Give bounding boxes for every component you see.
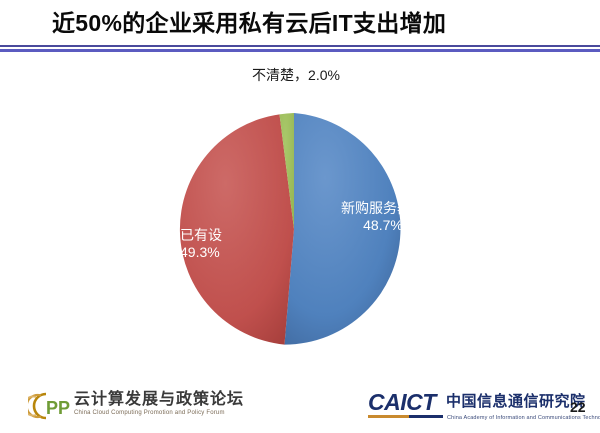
caict-name-en: China Academy of Information and Communi…	[447, 414, 600, 422]
page-title: 近50%的企业采用私有云后IT支出增加	[52, 7, 572, 39]
pie-label-new-server-value: 48.7%	[318, 217, 448, 234]
pie-label-existing-equipment: 利用已有设 备，49.3%	[152, 227, 277, 261]
pie-chart: 不清楚，2.0% 新购服务器， 48.7% 利用已有设 备，49.3%	[0, 55, 600, 375]
ccppf-circle-logo-icon: PP	[28, 391, 74, 421]
pie-label-unknown: 不清楚，2.0%	[206, 67, 386, 84]
divider-line-bottom	[0, 49, 600, 52]
pie-label-unknown-text: 不清楚，2.0%	[206, 67, 386, 84]
pie-label-existing-value: 备，49.3%	[152, 244, 277, 261]
pie-label-existing-name: 利用已有设	[152, 227, 277, 244]
forum-logo-text: 云计算发展与政策论坛 China Cloud Computing Promoti…	[74, 390, 244, 418]
svg-text:PP: PP	[46, 398, 70, 418]
caict-logo-bar	[368, 415, 443, 418]
forum-name-en: China Cloud Computing Promotion and Poli…	[74, 409, 244, 418]
caict-name-cn: 中国信息通信研究院	[446, 392, 586, 412]
title-divider	[0, 45, 600, 52]
pie-label-new-server-name: 新购服务器，	[318, 200, 448, 217]
divider-line-top	[0, 45, 600, 47]
pie-label-new-server: 新购服务器， 48.7%	[318, 200, 448, 234]
slide-canvas: 近50%的企业采用私有云后IT支出增加	[0, 0, 600, 433]
page-number: 22	[570, 399, 586, 415]
title-block: 近50%的企业采用私有云后IT支出增加	[0, 0, 600, 48]
footer: PP 云计算发展与政策论坛 China Cloud Computing Prom…	[0, 378, 600, 433]
caict-acronym: CAICT	[368, 390, 436, 414]
forum-name-cn: 云计算发展与政策论坛	[74, 390, 244, 409]
